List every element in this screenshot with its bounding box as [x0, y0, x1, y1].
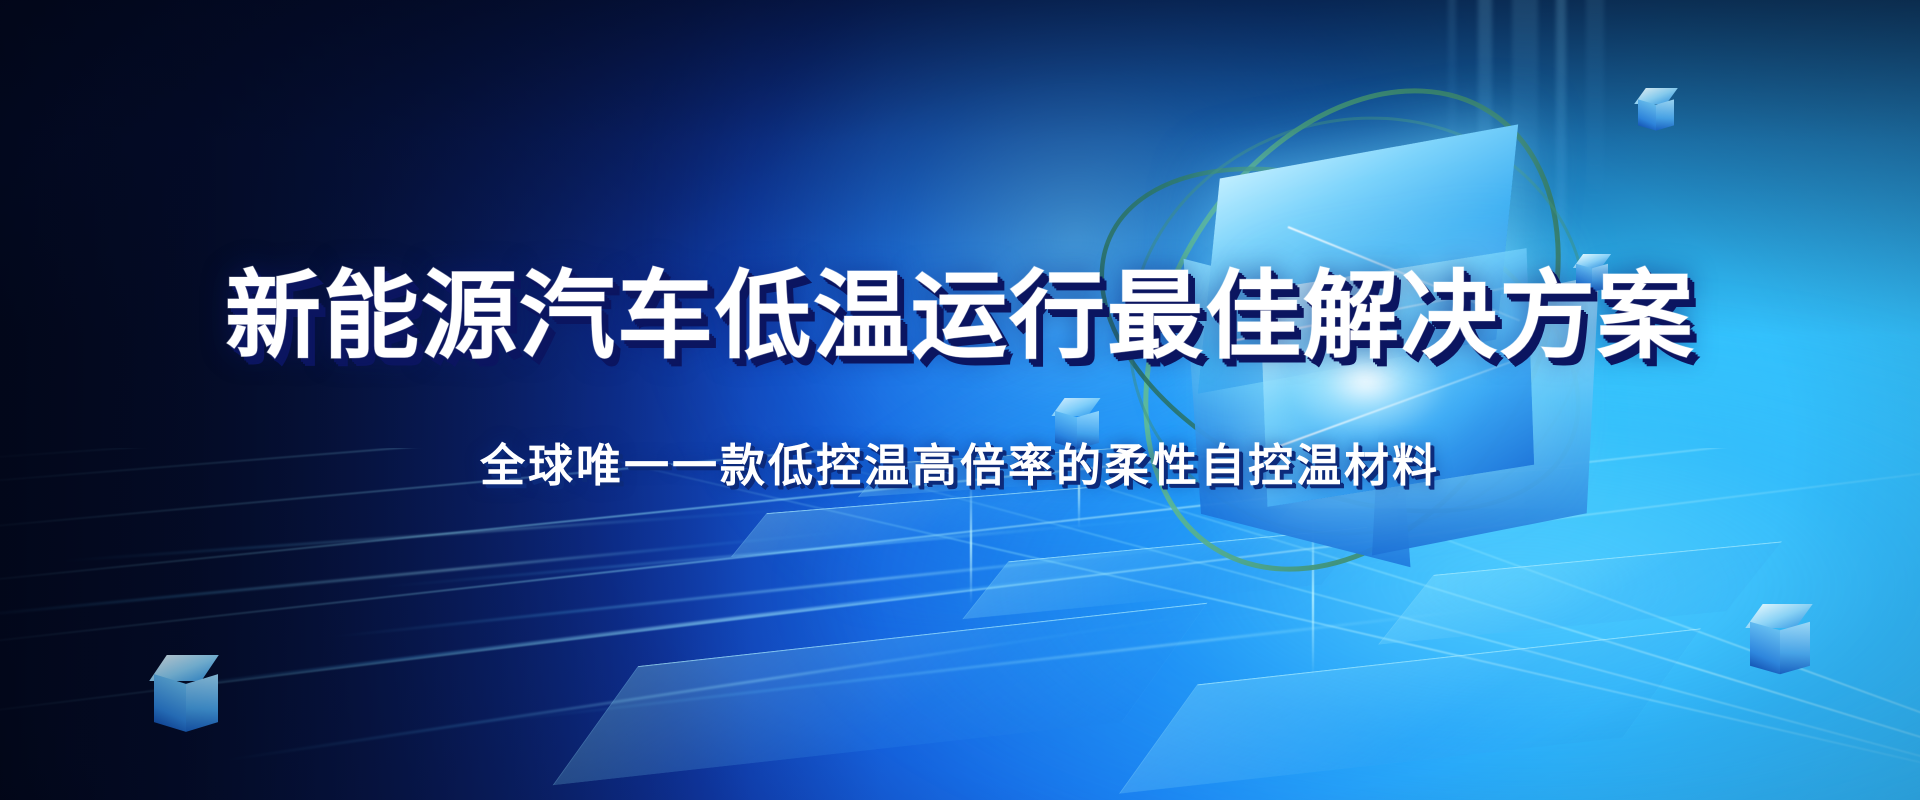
banner-headline: 新能源汽车低温运行最佳解决方案 — [0, 268, 1920, 364]
mini-cube-icon — [1746, 604, 1816, 678]
mini-cube-icon — [1636, 88, 1680, 134]
banner-root: 新能源汽车低温运行最佳解决方案 全球唯一一款低控温高倍率的柔性自控温材料 — [0, 0, 1920, 800]
grid-plate — [1119, 628, 1701, 793]
banner-subheadline: 全球唯一一款低控温高倍率的柔性自控温材料 — [0, 443, 1920, 488]
mini-cube-icon — [148, 655, 224, 735]
grid-spike-icon — [970, 474, 972, 604]
